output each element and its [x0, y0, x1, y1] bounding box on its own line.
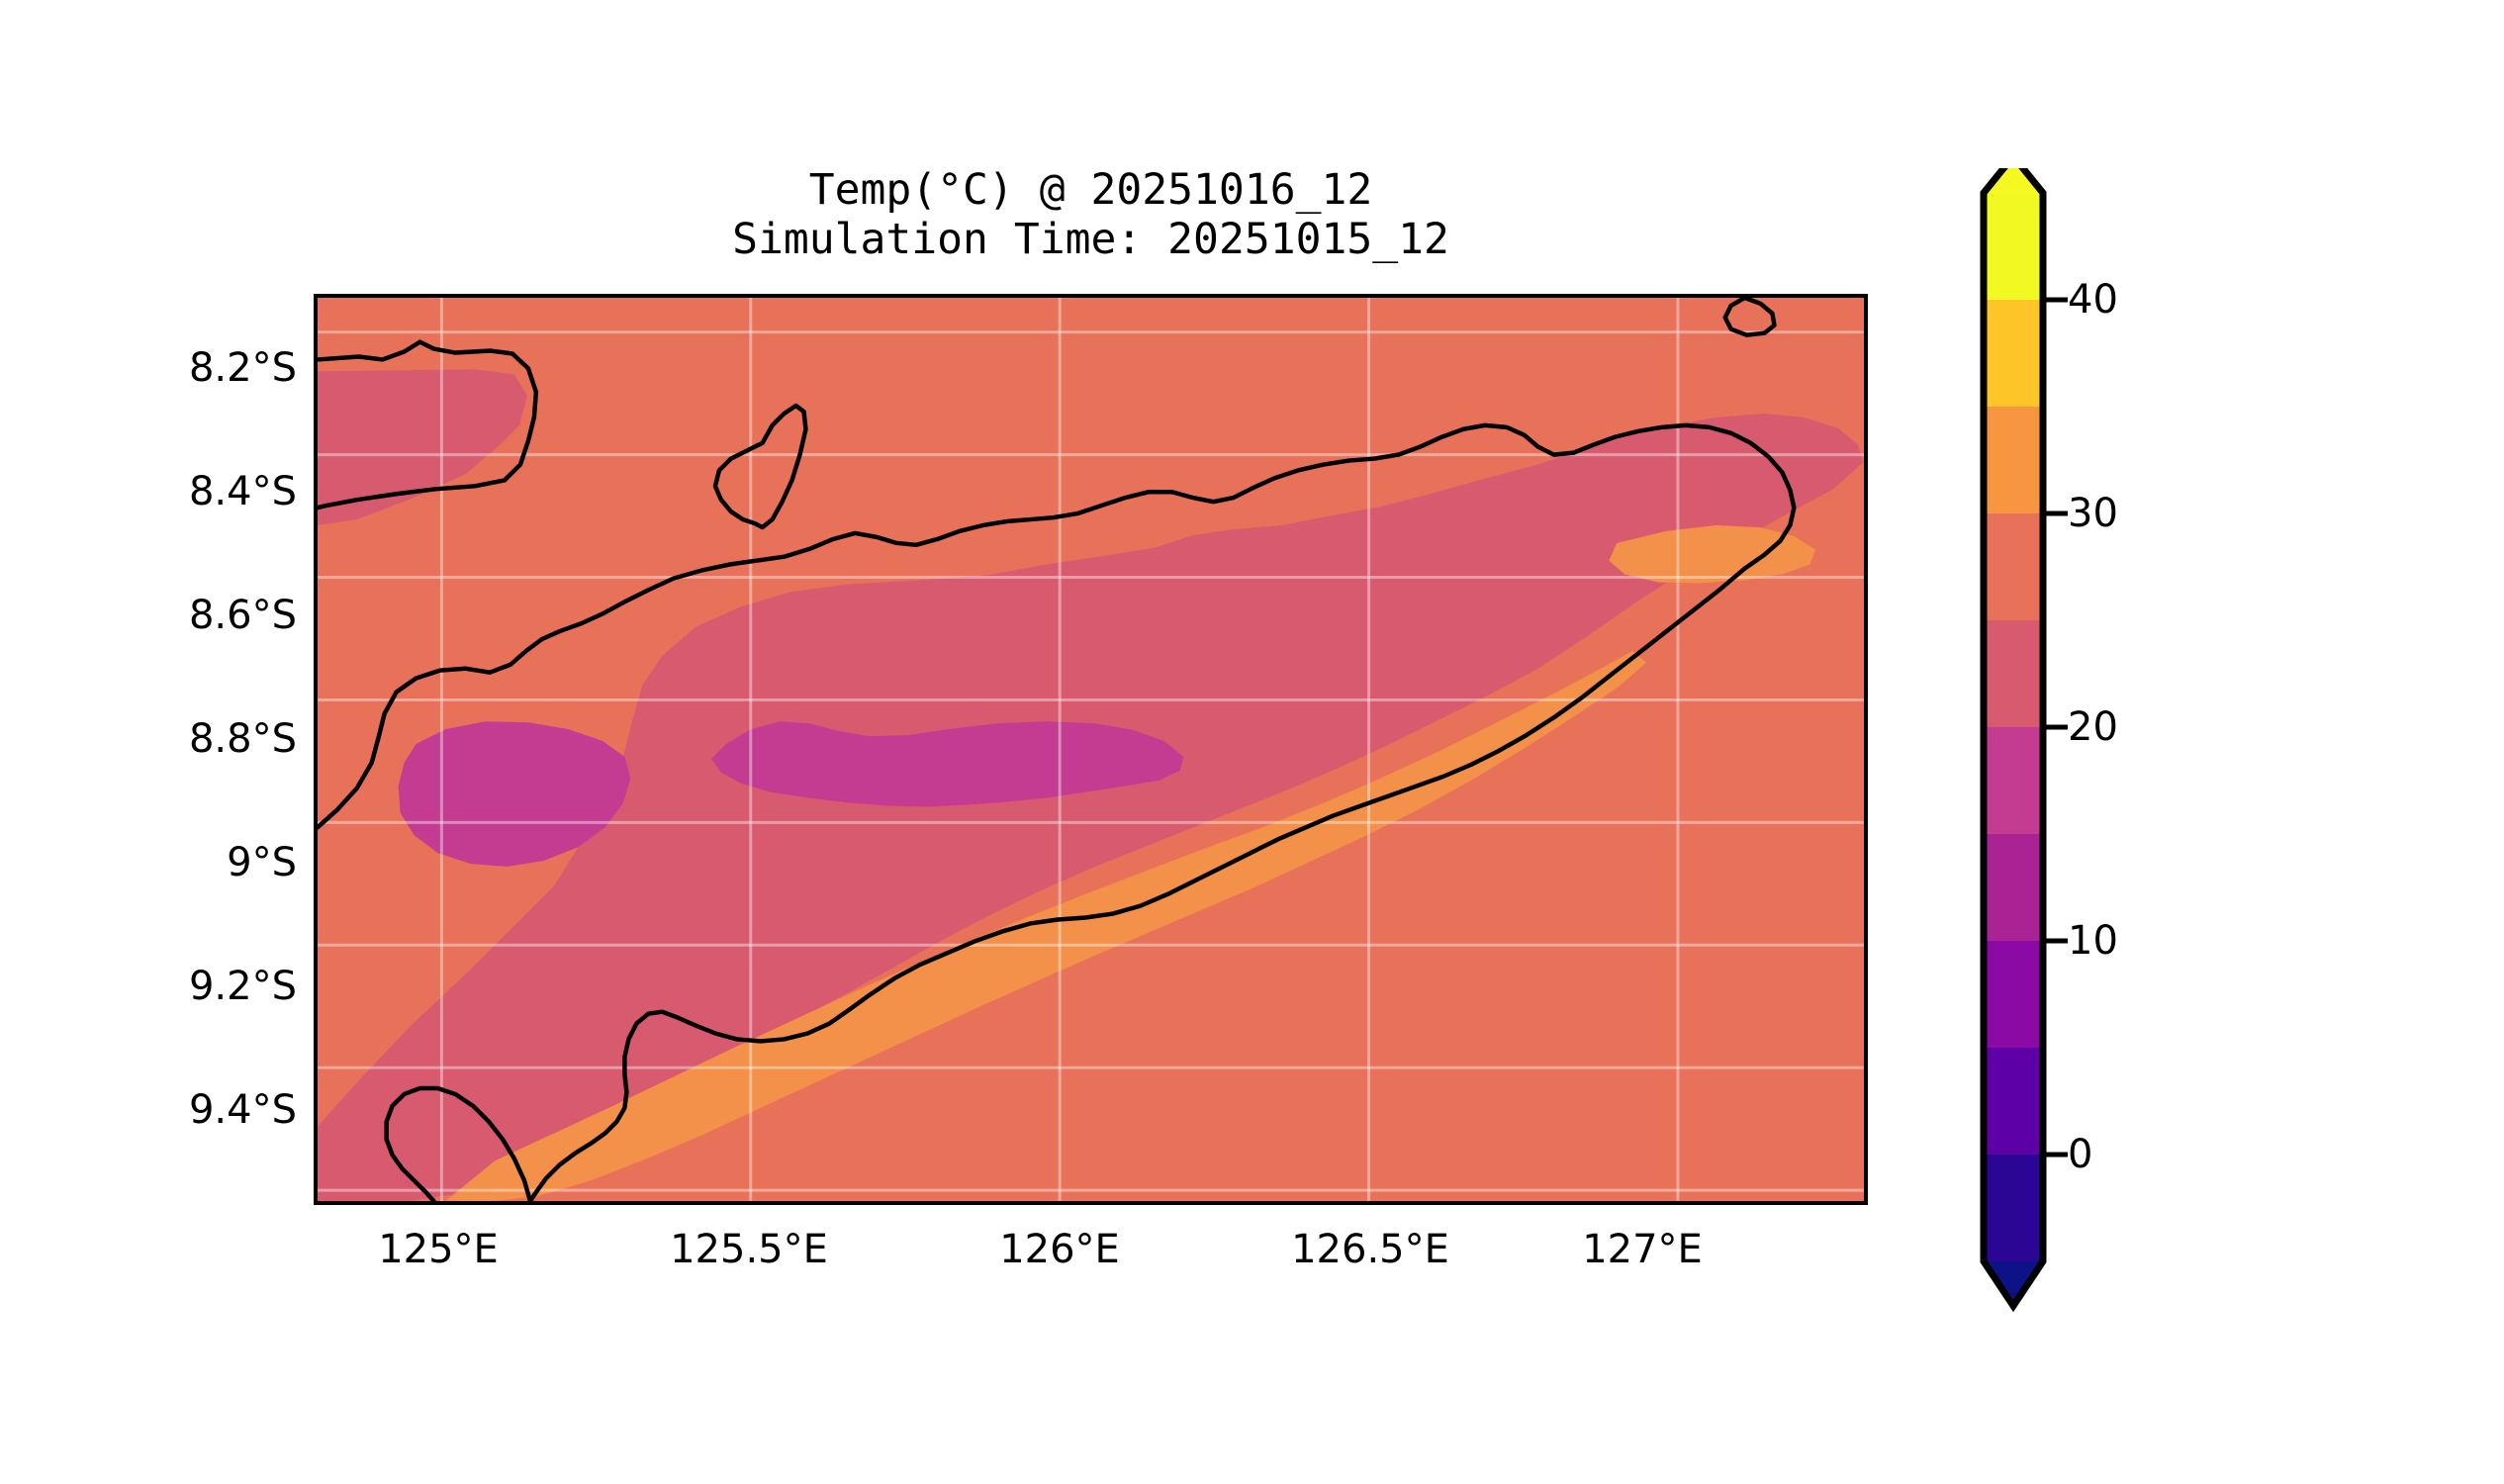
ytick-label-1: 8.4°S	[89, 469, 297, 514]
ytick-label-0: 8.2°S	[89, 345, 297, 391]
colorbar-ticklabel-40: 40	[2068, 277, 2118, 323]
colorbar-band-15-20	[1984, 727, 2043, 834]
ytick-label-2: 8.6°S	[89, 593, 297, 638]
colorbar-ticklabel-0: 0	[2068, 1132, 2092, 1177]
ytick-label-3: 8.8°S	[89, 716, 297, 762]
colorbar-band-20-25	[1984, 620, 2043, 727]
figure-canvas: Temp(°C) @ 20251016_12 Simulation Time: …	[0, 0, 2504, 1484]
colorbar-band-0-5	[1984, 1048, 2043, 1155]
colorbar-ticklabel-10: 10	[2068, 918, 2118, 964]
colorbar-ticklabel-30: 30	[2068, 491, 2118, 536]
colorbar-svg	[1969, 168, 2384, 1336]
xtick-label-0: 125°E	[310, 1227, 567, 1272]
colorbar-bands	[1984, 193, 2043, 1261]
colorbar-band-5-10	[1984, 941, 2043, 1048]
colorbar-ticks	[2043, 300, 2068, 1155]
ytick-label-6: 9.4°S	[89, 1087, 297, 1133]
contour-map-svg	[318, 298, 1864, 1201]
xtick-label-1: 125.5°E	[620, 1227, 878, 1272]
colorbar-band-10-15	[1984, 834, 2043, 941]
colorbar-band-30-35	[1984, 407, 2043, 513]
xtick-label-2: 126°E	[931, 1227, 1188, 1272]
xtick-label-3: 126.5°E	[1242, 1227, 1499, 1272]
colorbar-ticklabel-20: 20	[2068, 704, 2118, 750]
colorbar-extend-under-arrow	[1984, 1261, 2043, 1306]
ytick-label-4: 9°S	[89, 840, 297, 885]
colorbar-band-35-40	[1984, 300, 2043, 407]
colorbar-band-neg5-0	[1984, 1155, 2043, 1261]
colorbar-band-25-30	[1984, 513, 2043, 620]
colorbar-band-40-45	[1984, 193, 2043, 300]
ytick-label-5: 9.2°S	[89, 964, 297, 1009]
title-line-variable: Temp(°C) @ 20251016_12	[314, 166, 1868, 216]
title-line-simtime: Simulation Time: 20251015_12	[314, 216, 1868, 265]
map-plot-area	[318, 298, 1864, 1201]
colorbar[interactable]	[1969, 168, 2384, 1336]
chart-title: Temp(°C) @ 20251016_12 Simulation Time: …	[314, 166, 1868, 265]
map-axes[interactable]	[314, 294, 1868, 1205]
xtick-label-4: 127°E	[1514, 1227, 1771, 1272]
